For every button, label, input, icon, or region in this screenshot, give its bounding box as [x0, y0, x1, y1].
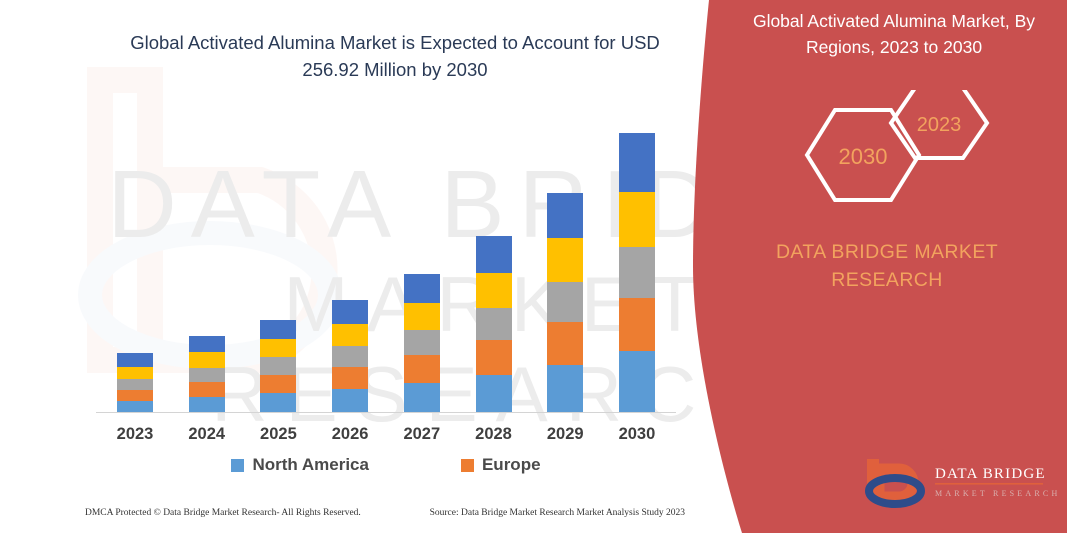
bar-segment [189, 382, 225, 397]
bar-segment [547, 282, 583, 322]
bar-column [391, 110, 453, 413]
x-axis-tick-label: 2023 [104, 425, 166, 444]
right-red-panel: Global Activated Alumina Market, By Regi… [687, 0, 1067, 533]
bar-segment [189, 352, 225, 367]
bar-segment [476, 375, 512, 413]
stacked-bar [260, 320, 296, 413]
dbmr-logo-line-1: DATA BRIDGE [935, 466, 1046, 482]
hexagon-2023-label: 2023 [917, 114, 962, 136]
bar-segment [332, 324, 368, 346]
infographic-root: DATA BRIDGE MARKET RESEARCH Global Activ… [0, 0, 1067, 533]
bar-segment [476, 308, 512, 340]
stacked-bar [332, 300, 368, 413]
bar-segment [117, 367, 153, 379]
stacked-bar [404, 274, 440, 413]
bar-segment [404, 274, 440, 303]
right-panel-title: Global Activated Alumina Market, By Regi… [739, 8, 1049, 61]
bar-column [319, 110, 381, 413]
bar-segment [476, 340, 512, 374]
x-axis-tick-label: 2029 [534, 425, 596, 444]
stacked-bar [117, 353, 153, 413]
bar-segment [332, 367, 368, 389]
stacked-bar [476, 236, 512, 413]
hexagon-2030-label: 2030 [839, 144, 888, 169]
legend-label: Europe [482, 455, 541, 475]
hexagon-group: 2030 2023 [767, 90, 1057, 220]
bar-column [247, 110, 309, 413]
bar-segment [332, 300, 368, 324]
bar-segment [189, 397, 225, 413]
chart-legend: North AmericaEurope [96, 455, 676, 475]
bar-segment [619, 298, 655, 352]
bar-segment [547, 365, 583, 413]
bar-segment [619, 192, 655, 248]
bar-segment [404, 383, 440, 413]
bar-segment [117, 353, 153, 366]
bar-segment [189, 368, 225, 382]
legend-swatch [231, 459, 244, 472]
bar-segment [547, 193, 583, 238]
bar-segment [260, 320, 296, 339]
stacked-bar [189, 336, 225, 413]
bar-column [104, 110, 166, 413]
bar-column [463, 110, 525, 413]
bar-segment [189, 336, 225, 352]
bar-segment [260, 393, 296, 413]
bar-segment [404, 355, 440, 382]
brand-name-line-1: DATA BRIDGE MARKET [776, 241, 998, 263]
bar-segment [547, 238, 583, 281]
bar-segment [117, 390, 153, 401]
chart-title: Global Activated Alumina Market is Expec… [100, 30, 690, 84]
bar-segment [547, 322, 583, 364]
bar-column [176, 110, 238, 413]
dbmr-logo-line-2: MARKET RESEARCH [935, 489, 1057, 498]
legend-item[interactable]: Europe [461, 455, 541, 475]
footer: DMCA Protected © Data Bridge Market Rese… [85, 508, 685, 518]
bar-segment [404, 303, 440, 330]
x-axis-line [96, 412, 676, 413]
bar-segment [476, 273, 512, 308]
brand-name: DATA BRIDGE MARKET RESEARCH [727, 238, 1047, 295]
chart-plot-area [96, 110, 676, 413]
x-axis-tick-label: 2028 [463, 425, 525, 444]
bar-segment [476, 236, 512, 272]
bar-segment [260, 357, 296, 374]
bar-group [96, 110, 676, 413]
bar-segment [619, 351, 655, 413]
legend-swatch [461, 459, 474, 472]
legend-item[interactable]: North America [231, 455, 369, 475]
bar-column [534, 110, 596, 413]
stacked-bar [547, 193, 583, 413]
footer-copyright: DMCA Protected © Data Bridge Market Rese… [85, 508, 361, 518]
bar-segment [332, 389, 368, 413]
bar-segment [619, 133, 655, 192]
bar-column [606, 110, 668, 413]
dbmr-logo: DATA BRIDGE MARKET RESEARCH [857, 455, 1057, 510]
x-axis-tick-label: 2026 [319, 425, 381, 444]
x-axis-tick-label: 2027 [391, 425, 453, 444]
footer-source: Source: Data Bridge Market Research Mark… [430, 508, 685, 518]
x-axis-tick-label: 2030 [606, 425, 668, 444]
bar-segment [117, 379, 153, 390]
x-axis-labels: 20232024202520262027202820292030 [96, 425, 676, 444]
bar-segment [260, 339, 296, 357]
bar-segment [260, 375, 296, 393]
stacked-bar [619, 133, 655, 413]
brand-name-line-2: RESEARCH [831, 269, 943, 291]
bar-segment [404, 330, 440, 355]
bar-segment [332, 346, 368, 366]
x-axis-tick-label: 2025 [247, 425, 309, 444]
legend-label: North America [252, 455, 369, 475]
bar-segment [619, 247, 655, 298]
x-axis-tick-label: 2024 [176, 425, 238, 444]
